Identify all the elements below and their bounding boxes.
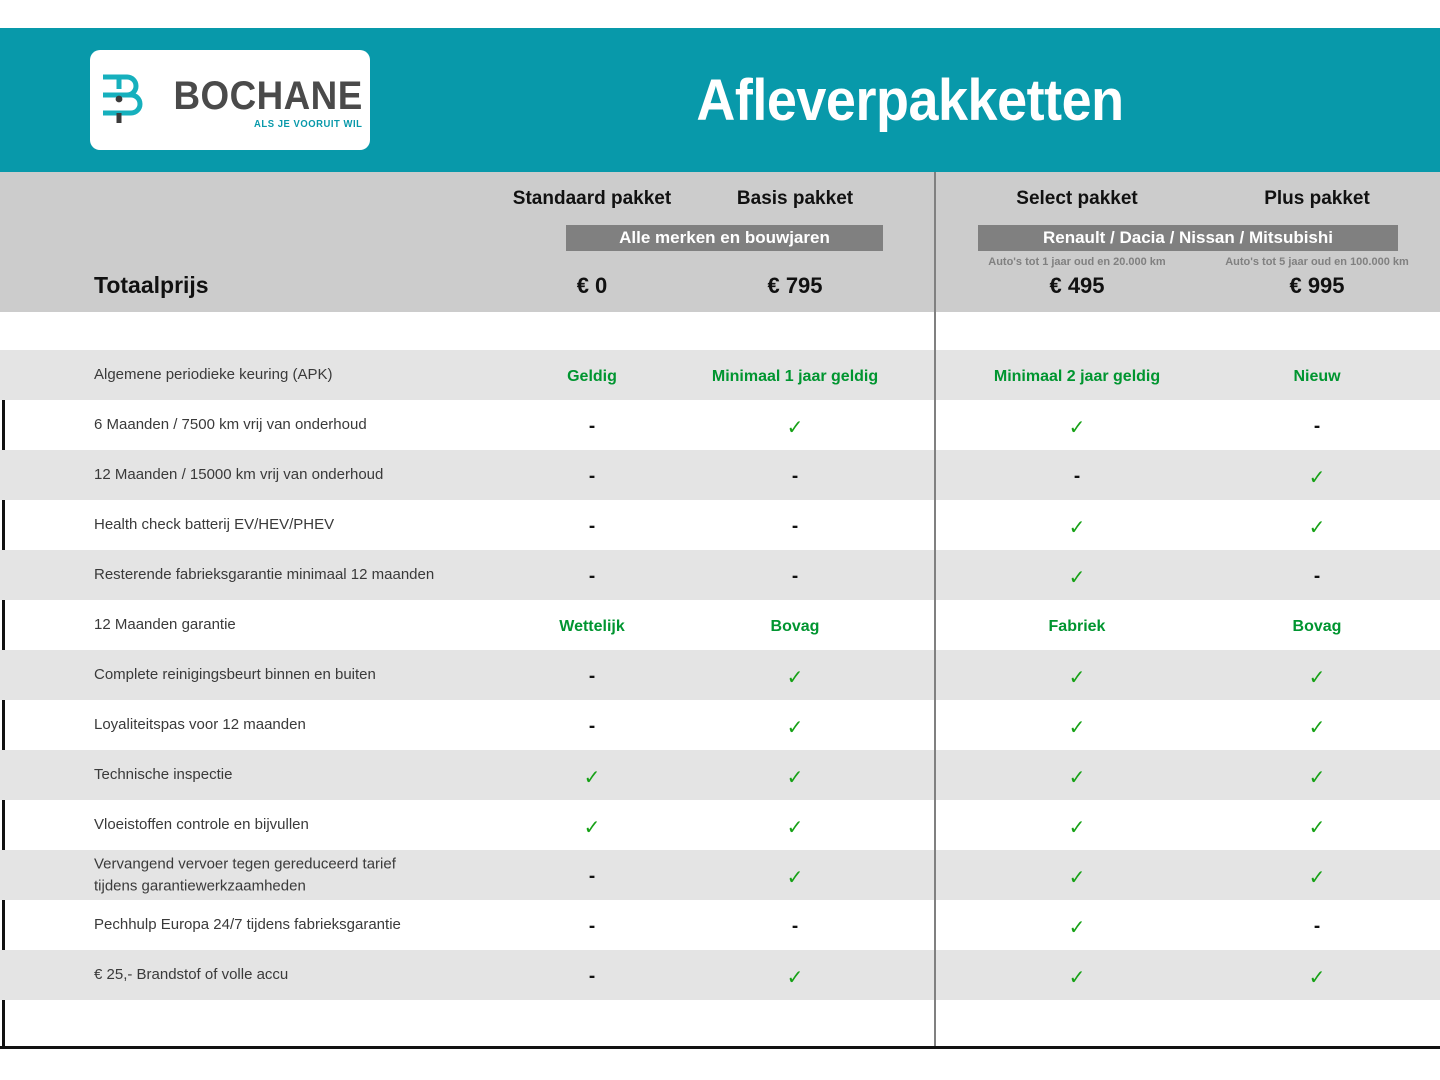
row-edge-marker (2, 800, 5, 850)
cell-1: - (497, 650, 687, 700)
table-row: Complete reinigingsbeurt binnen en buite… (0, 650, 1440, 700)
afleverpakketten-page: BOCHANE ALS JE VOORUIT WIL Afleverpakket… (0, 0, 1440, 1080)
cell-1: - (497, 450, 687, 500)
table-row: Vervangend vervoer tegen gereduceerd tar… (0, 850, 1440, 900)
cell-3: Minimaal 2 jaar geldig (982, 350, 1172, 400)
cell-3: ✓ (982, 550, 1172, 600)
table-row: € 25,- Brandstof of volle accu-✓✓✓ (0, 950, 1440, 1000)
cell-3: ✓ (982, 400, 1172, 450)
cell-3: - (982, 450, 1172, 500)
cell-3: ✓ (982, 650, 1172, 700)
cell-3: ✓ (982, 800, 1172, 850)
table-row: 6 Maanden / 7500 km vrij van onderhoud-✓… (0, 400, 1440, 450)
cell-2: ✓ (700, 750, 890, 800)
cell-2: ✓ (700, 950, 890, 1000)
cell-3: ✓ (982, 850, 1172, 900)
row-label: Technische inspectie (94, 764, 232, 786)
cell-4: ✓ (1222, 800, 1412, 850)
cell-4: - (1222, 550, 1412, 600)
row-edge-marker (2, 500, 5, 550)
logo-tagline: ALS JE VOORUIT WIL (254, 119, 362, 130)
table-row: Health check batterij EV/HEV/PHEV--✓✓ (0, 500, 1440, 550)
cell-1: - (497, 550, 687, 600)
brand-logo[interactable]: BOCHANE ALS JE VOORUIT WIL (90, 50, 370, 150)
cell-2: ✓ (700, 400, 890, 450)
cell-2: ✓ (700, 850, 890, 900)
row-edge-marker (2, 600, 5, 650)
cell-2: - (700, 500, 890, 550)
cell-1: - (497, 950, 687, 1000)
price-standaard: € 0 (497, 273, 687, 299)
page-title: Afleverpakketten (417, 28, 1403, 172)
table-bottom-spacer (0, 1000, 1440, 1060)
cell-4: ✓ (1222, 850, 1412, 900)
table-row: Pechhulp Europa 24/7 tijdens fabrieksgar… (0, 900, 1440, 950)
header-banner: BOCHANE ALS JE VOORUIT WIL Afleverpakket… (0, 28, 1440, 172)
pill-merken-select-plus: Renault / Dacia / Nissan / Mitsubishi (978, 225, 1398, 251)
left-edge-rule (2, 1000, 5, 1048)
row-label: Loyaliteitspas voor 12 maanden (94, 714, 306, 736)
cell-1: - (497, 850, 687, 900)
price-select: € 495 (982, 273, 1172, 299)
price-plus: € 995 (1222, 273, 1412, 299)
row-label: 12 Maanden garantie (94, 614, 236, 636)
cell-4: Nieuw (1222, 350, 1412, 400)
pill-alle-merken: Alle merken en bouwjaren (566, 225, 883, 251)
logo-wordmark: BOCHANE (174, 76, 363, 116)
cell-1: ✓ (497, 800, 687, 850)
column-title-standaard: Standaard pakket (497, 188, 687, 210)
table-row: Resterende fabrieksgarantie minimaal 12 … (0, 550, 1440, 600)
table-row: Loyaliteitspas voor 12 maanden-✓✓✓ (0, 700, 1440, 750)
cell-3: ✓ (982, 750, 1172, 800)
cell-4: ✓ (1222, 750, 1412, 800)
cell-1: Geldig (497, 350, 687, 400)
row-label: € 25,- Brandstof of volle accu (94, 964, 288, 986)
feature-table: Algemene periodieke keuring (APK)GeldigM… (0, 312, 1440, 1048)
row-edge-marker (2, 700, 5, 750)
cell-3: ✓ (982, 950, 1172, 1000)
row-label: Resterende fabrieksgarantie minimaal 12 … (94, 564, 434, 586)
cell-2: Minimaal 1 jaar geldig (700, 350, 890, 400)
row-label: Pechhulp Europa 24/7 tijdens fabrieksgar… (94, 914, 401, 936)
column-title-basis: Basis pakket (700, 188, 890, 210)
row-label: Algemene periodieke keuring (APK) (94, 364, 332, 386)
row-label: 12 Maanden / 15000 km vrij van onderhoud (94, 464, 383, 486)
bochane-b-icon (97, 71, 149, 129)
fineprint-plus: Auto's tot 5 jaar oud en 100.000 km (1222, 256, 1412, 268)
cell-1: - (497, 700, 687, 750)
cell-2: ✓ (700, 700, 890, 750)
cell-4: ✓ (1222, 450, 1412, 500)
cell-4: ✓ (1222, 650, 1412, 700)
row-label: Complete reinigingsbeurt binnen en buite… (94, 664, 376, 686)
row-edge-marker (2, 400, 5, 450)
table-row: 12 Maanden garantieWettelijkBovagFabriek… (0, 600, 1440, 650)
table-row: Technische inspectie✓✓✓✓ (0, 750, 1440, 800)
cell-4: ✓ (1222, 950, 1412, 1000)
totaalprijs-label: Totaalprijs (94, 272, 209, 299)
fineprint-select: Auto's tot 1 jaar oud en 20.000 km (982, 256, 1172, 268)
column-header-band: Standaard pakket Basis pakket Select pak… (0, 172, 1440, 312)
cell-3: Fabriek (982, 600, 1172, 650)
column-title-plus: Plus pakket (1222, 188, 1412, 210)
table-row: Algemene periodieke keuring (APK)GeldigM… (0, 350, 1440, 400)
cell-4: ✓ (1222, 700, 1412, 750)
cell-4: - (1222, 400, 1412, 450)
cell-1: - (497, 500, 687, 550)
cell-1: - (497, 900, 687, 950)
cell-2: ✓ (700, 650, 890, 700)
cell-3: ✓ (982, 500, 1172, 550)
table-bottom-rule (0, 1046, 1440, 1049)
cell-1: Wettelijk (497, 600, 687, 650)
column-title-select: Select pakket (982, 188, 1172, 210)
row-edge-marker (2, 900, 5, 950)
price-basis: € 795 (700, 273, 890, 299)
row-label: Vloeistoffen controle en bijvullen (94, 814, 309, 836)
cell-2: ✓ (700, 800, 890, 850)
cell-4: Bovag (1222, 600, 1412, 650)
cell-2: - (700, 450, 890, 500)
row-label: 6 Maanden / 7500 km vrij van onderhoud (94, 414, 367, 436)
column-group-divider (934, 172, 936, 1048)
cell-2: - (700, 900, 890, 950)
cell-1: - (497, 400, 687, 450)
table-row: Vloeistoffen controle en bijvullen✓✓✓✓ (0, 800, 1440, 850)
cell-3: ✓ (982, 700, 1172, 750)
row-label: Vervangend vervoer tegen gereduceerd tar… (94, 853, 396, 897)
table-top-spacer (0, 312, 1440, 350)
cell-4: - (1222, 900, 1412, 950)
table-row: 12 Maanden / 15000 km vrij van onderhoud… (0, 450, 1440, 500)
cell-4: ✓ (1222, 500, 1412, 550)
cell-3: ✓ (982, 900, 1172, 950)
cell-2: Bovag (700, 600, 890, 650)
row-label: Health check batterij EV/HEV/PHEV (94, 514, 334, 536)
cell-1: ✓ (497, 750, 687, 800)
cell-2: - (700, 550, 890, 600)
